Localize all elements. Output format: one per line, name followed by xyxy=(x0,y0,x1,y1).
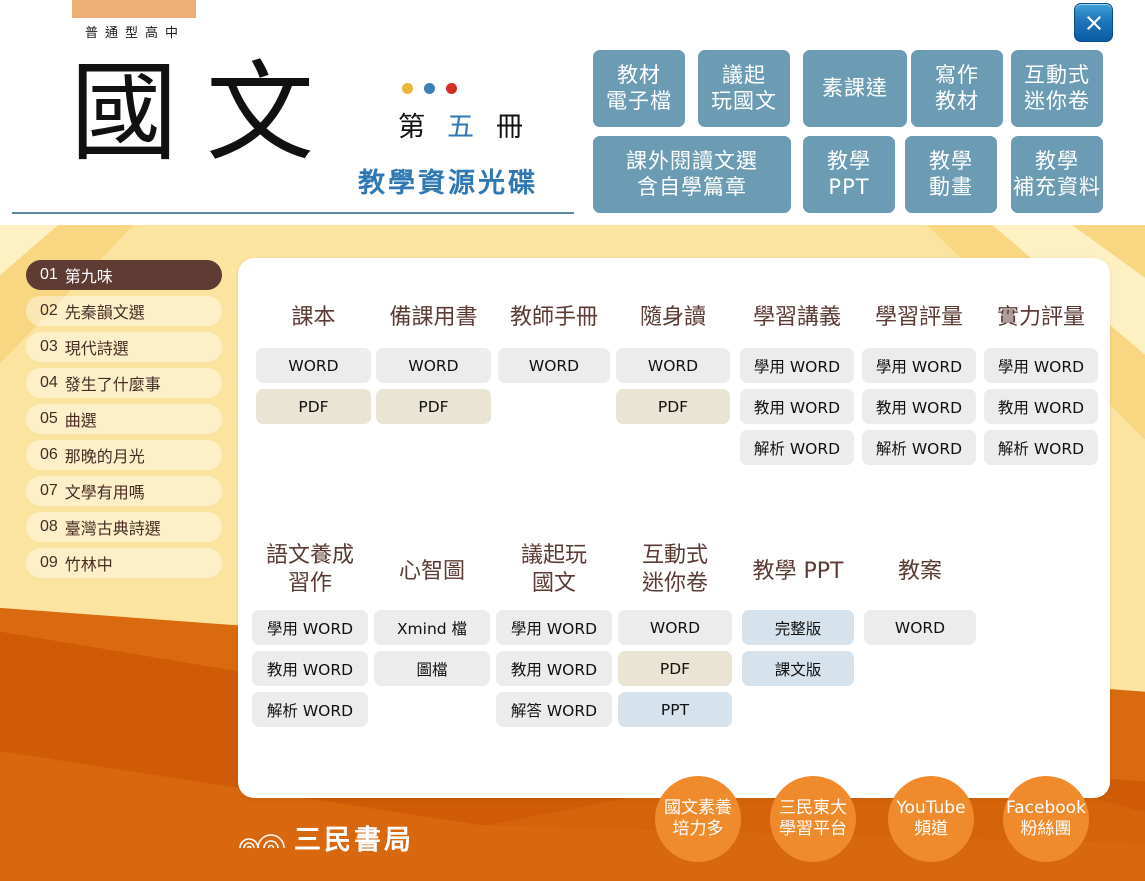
file-button-word[interactable]: 解析 WORD xyxy=(252,692,368,727)
sidebar-item-02[interactable]: 02先秦韻文選 xyxy=(26,296,222,326)
file-button-word[interactable]: 解答 WORD xyxy=(496,692,612,727)
column-header: 學習評量 xyxy=(862,304,976,338)
top-button-label: 議起 xyxy=(722,63,766,88)
file-button-word[interactable]: WORD xyxy=(864,610,976,645)
volume-prefix: 第 xyxy=(398,112,447,143)
footer-link-label: 三民東大 xyxy=(779,798,847,819)
file-button-pdf[interactable]: PDF xyxy=(256,389,371,424)
column-buttons: WORD xyxy=(498,348,610,383)
column-buttons: Xmind 檔圖檔 xyxy=(374,610,490,686)
footer-link-label: Facebook xyxy=(1006,798,1086,819)
decor-dots xyxy=(402,83,522,95)
sidebar-item-number: 04 xyxy=(40,374,58,392)
top-button-9[interactable]: 教學補充資料 xyxy=(1011,136,1103,213)
top-button-4[interactable]: 寫作教材 xyxy=(911,50,1003,127)
column-buttons: 學用 WORD教用 WORD解析 WORD xyxy=(740,348,854,465)
column-header: 課本 xyxy=(256,304,371,338)
dot-blue-icon xyxy=(424,83,435,94)
sidebar-item-label: 現代詩選 xyxy=(65,335,129,359)
footer-link-2[interactable]: 三民東大學習平台 xyxy=(770,776,856,862)
footer-link-1[interactable]: 國文素養培力多 xyxy=(655,776,741,862)
resource-column: 備課用書WORDPDF xyxy=(376,304,491,430)
column-header-line: 語文養成 xyxy=(252,542,368,570)
top-button-label: 電子檔 xyxy=(606,89,672,114)
volume-label: 第五冊 xyxy=(398,105,545,144)
resource-column: 心智圖Xmind 檔圖檔 xyxy=(374,542,490,692)
sidebar-item-number: 02 xyxy=(40,302,58,320)
sidebar-item-05[interactable]: 05曲選 xyxy=(26,404,222,434)
footer-link-label: YouTube xyxy=(896,798,965,819)
file-button-word[interactable]: WORD xyxy=(618,610,732,645)
page-header: 普通型高中 國文 第五冊 教學資源光碟 教材電子檔議起玩國文素課達寫作教材互動式… xyxy=(0,0,1145,225)
column-header-line: 議起玩 xyxy=(496,542,612,570)
top-button-label: 素課達 xyxy=(822,76,888,101)
column-header-line: 備課用書 xyxy=(376,304,491,332)
sidebar-item-08[interactable]: 08臺灣古典詩選 xyxy=(26,512,222,542)
top-button-5[interactable]: 互動式迷你卷 xyxy=(1011,50,1103,127)
top-button-7[interactable]: 教學PPT xyxy=(803,136,895,213)
column-header-line: 學習評量 xyxy=(862,304,976,332)
column-buttons: 學用 WORD教用 WORD解析 WORD xyxy=(252,610,368,727)
column-header: 教師手冊 xyxy=(498,304,610,338)
dot-red-icon xyxy=(446,83,457,94)
top-button-label: 課外閱讀文選 xyxy=(626,149,758,174)
sidebar-item-label: 第九味 xyxy=(65,263,113,287)
sidebar-item-label: 那晚的月光 xyxy=(65,443,145,467)
lesson-sidebar: 01第九味02先秦韻文選03現代詩選04發生了什麼事05曲選06那晚的月光07文… xyxy=(26,260,222,584)
publisher-name: 三民書局 xyxy=(294,818,414,857)
resource-column: 語文養成習作學用 WORD教用 WORD解析 WORD xyxy=(252,542,368,733)
file-button-word[interactable]: WORD xyxy=(256,348,371,383)
file-button-word[interactable]: 教用 WORD xyxy=(252,651,368,686)
column-header: 學習講義 xyxy=(740,304,854,338)
resource-column: 隨身讀WORDPDF xyxy=(616,304,730,430)
resource-column: 教學 PPT完整版課文版 xyxy=(742,542,854,692)
column-header: 實力評量 xyxy=(984,304,1098,338)
footer-link-4[interactable]: Facebook粉絲團 xyxy=(1003,776,1089,862)
top-button-label: PPT xyxy=(828,175,869,200)
top-button-label: 教學 xyxy=(1035,149,1079,174)
column-header: 語文養成習作 xyxy=(252,542,368,600)
top-button-6[interactable]: 課外閱讀文選含自學篇章 xyxy=(593,136,791,213)
file-button-word[interactable]: 學用 WORD xyxy=(496,610,612,645)
publisher-logo: 三民書局 xyxy=(238,818,438,858)
file-button-word[interactable]: 解析 WORD xyxy=(862,430,976,465)
footer-link-circles: 國文素養培力多三民東大學習平台YouTube頻道Facebook粉絲團 xyxy=(655,776,1115,876)
page-subtitle: 教學資源光碟 xyxy=(358,161,538,200)
column-header-line: 實力評量 xyxy=(984,304,1098,332)
footer-link-label: 粉絲團 xyxy=(1021,819,1072,840)
file-button-word[interactable]: 解析 WORD xyxy=(740,430,854,465)
sidebar-item-label: 臺灣古典詩選 xyxy=(65,515,161,539)
grade-tag-label: 普通型高中 xyxy=(66,22,204,41)
column-header: 隨身讀 xyxy=(616,304,730,338)
top-button-label: 教材 xyxy=(935,89,979,114)
sidebar-item-number: 08 xyxy=(40,518,58,536)
sidebar-item-number: 03 xyxy=(40,338,58,356)
footer-link-3[interactable]: YouTube頻道 xyxy=(888,776,974,862)
file-button-word[interactable]: 教用 WORD xyxy=(740,389,854,424)
page-footer: 三民書局 國文素養培力多三民東大學習平台YouTube頻道Facebook粉絲團 xyxy=(0,760,1145,881)
column-header-line: 教學 PPT xyxy=(742,558,854,586)
file-button-word[interactable]: 學用 WORD xyxy=(740,348,854,383)
file-button-ppt[interactable]: 課文版 xyxy=(742,651,854,686)
file-button-pdf[interactable]: PDF xyxy=(616,389,730,424)
file-button-word[interactable]: 教用 WORD xyxy=(862,389,976,424)
column-buttons: 學用 WORD教用 WORD解答 WORD xyxy=(496,610,612,727)
file-button-pdf[interactable]: PDF xyxy=(618,651,732,686)
sidebar-item-04[interactable]: 04發生了什麼事 xyxy=(26,368,222,398)
column-buttons: 學用 WORD教用 WORD解析 WORD xyxy=(984,348,1098,465)
resource-column: 教師手冊WORD xyxy=(498,304,610,389)
sidebar-item-06[interactable]: 06那晚的月光 xyxy=(26,440,222,470)
footer-link-label: 頻道 xyxy=(914,819,948,840)
column-header-line: 心智圖 xyxy=(374,558,490,586)
file-button-pdf[interactable]: PDF xyxy=(376,389,491,424)
sidebar-item-label: 文學有用嗎 xyxy=(65,479,145,503)
file-button-word[interactable]: Xmind 檔 xyxy=(374,610,490,645)
column-header-line: 隨身讀 xyxy=(616,304,730,332)
column-header-line: 互動式 xyxy=(618,542,732,570)
volume-number: 五 xyxy=(447,112,496,143)
resource-column: 教案WORD xyxy=(864,542,976,651)
column-buttons: WORD xyxy=(864,610,976,645)
sidebar-item-number: 01 xyxy=(40,266,58,284)
file-button-word[interactable]: 學用 WORD xyxy=(984,348,1098,383)
column-header: 備課用書 xyxy=(376,304,491,338)
top-button-1[interactable]: 教材電子檔 xyxy=(593,50,685,127)
resource-column: 議起玩國文學用 WORD教用 WORD解答 WORD xyxy=(496,542,612,733)
file-button-word[interactable]: WORD xyxy=(616,348,730,383)
sidebar-item-number: 07 xyxy=(40,482,58,500)
column-header-line: 迷你卷 xyxy=(618,570,732,598)
top-button-label: 動畫 xyxy=(929,175,973,200)
sidebar-item-label: 發生了什麼事 xyxy=(65,371,161,395)
column-buttons: 學用 WORD教用 WORD解析 WORD xyxy=(862,348,976,465)
column-header-line: 學習講義 xyxy=(740,304,854,332)
sidebar-item-09[interactable]: 09竹林中 xyxy=(26,548,222,578)
footer-link-label: 學習平台 xyxy=(779,819,847,840)
top-button-label: 教學 xyxy=(929,149,973,174)
footer-link-label: 國文素養 xyxy=(664,798,732,819)
column-header: 互動式迷你卷 xyxy=(618,542,732,600)
volume-suffix: 冊 xyxy=(496,112,545,143)
sidebar-item-label: 竹林中 xyxy=(65,551,113,575)
column-buttons: WORDPDFPPT xyxy=(618,610,732,727)
sidebar-item-label: 先秦韻文選 xyxy=(65,299,145,323)
top-button-3[interactable]: 素課達 xyxy=(803,50,907,127)
top-button-label: 含自學篇章 xyxy=(637,175,747,200)
file-button-ppt[interactable]: 完整版 xyxy=(742,610,854,645)
resource-column: 互動式迷你卷WORDPDFPPT xyxy=(618,542,732,733)
sidebar-item-number: 09 xyxy=(40,554,58,572)
column-header-line: 教師手冊 xyxy=(498,304,610,332)
top-button-label: 補充資料 xyxy=(1013,175,1101,200)
top-button-label: 玩國文 xyxy=(711,89,777,114)
file-button-word[interactable]: 學用 WORD xyxy=(252,610,368,645)
sidebar-item-01[interactable]: 01第九味 xyxy=(26,260,222,290)
top-button-label: 寫作 xyxy=(935,63,979,88)
file-button-word[interactable]: WORD xyxy=(498,348,610,383)
sidebar-item-number: 06 xyxy=(40,446,58,464)
close-icon[interactable] xyxy=(1074,3,1113,42)
app-root: 普通型高中 國文 第五冊 教學資源光碟 教材電子檔議起玩國文素課達寫作教材互動式… xyxy=(0,0,1145,881)
top-button-label: 迷你卷 xyxy=(1024,89,1090,114)
file-button-word[interactable]: WORD xyxy=(376,348,491,383)
sidebar-item-number: 05 xyxy=(40,410,58,428)
resource-column: 實力評量學用 WORD教用 WORD解析 WORD xyxy=(984,304,1098,471)
top-button-8[interactable]: 教學動畫 xyxy=(905,136,997,213)
file-button-word[interactable]: 解析 WORD xyxy=(984,430,1098,465)
top-button-label: 教材 xyxy=(617,63,661,88)
arch-logo-icon xyxy=(238,826,290,850)
top-button-label: 教學 xyxy=(827,149,871,174)
sidebar-item-07[interactable]: 07文學有用嗎 xyxy=(26,476,222,506)
column-header-line: 習作 xyxy=(252,570,368,598)
column-buttons: 完整版課文版 xyxy=(742,610,854,686)
column-header: 教案 xyxy=(864,542,976,600)
top-button-2[interactable]: 議起玩國文 xyxy=(698,50,790,127)
column-header: 教學 PPT xyxy=(742,542,854,600)
file-button-word[interactable]: 教用 WORD xyxy=(496,651,612,686)
top-button-label: 互動式 xyxy=(1024,63,1090,88)
header-divider xyxy=(12,212,574,214)
file-button-ppt[interactable]: PPT xyxy=(618,692,732,727)
resource-column: 課本WORDPDF xyxy=(256,304,371,430)
column-header-line: 教案 xyxy=(864,558,976,586)
column-buttons: WORDPDF xyxy=(376,348,491,424)
grade-tag-block xyxy=(72,0,196,18)
file-button-word[interactable]: 教用 WORD xyxy=(984,389,1098,424)
sidebar-item-label: 曲選 xyxy=(65,407,97,431)
sidebar-item-03[interactable]: 03現代詩選 xyxy=(26,332,222,362)
file-button-word[interactable]: 圖檔 xyxy=(374,651,490,686)
column-header: 議起玩國文 xyxy=(496,542,612,600)
file-button-word[interactable]: 學用 WORD xyxy=(862,348,976,383)
footer-link-label: 培力多 xyxy=(673,819,724,840)
dot-yellow-icon xyxy=(402,83,413,94)
column-header: 心智圖 xyxy=(374,542,490,600)
column-header-line: 課本 xyxy=(256,304,371,332)
column-buttons: WORDPDF xyxy=(616,348,730,424)
column-header-line: 國文 xyxy=(496,570,612,598)
page-title: 國文 xyxy=(70,60,342,168)
resource-column: 學習評量學用 WORD教用 WORD解析 WORD xyxy=(862,304,976,471)
column-buttons: WORDPDF xyxy=(256,348,371,424)
top-button-grid: 教材電子檔議起玩國文素課達寫作教材互動式迷你卷課外閱讀文選含自學篇章教學PPT教… xyxy=(593,50,1113,215)
resource-card: 課本WORDPDF備課用書WORDPDF教師手冊WORD隨身讀WORDPDF學習… xyxy=(238,258,1110,798)
resource-column: 學習講義學用 WORD教用 WORD解析 WORD xyxy=(740,304,854,471)
